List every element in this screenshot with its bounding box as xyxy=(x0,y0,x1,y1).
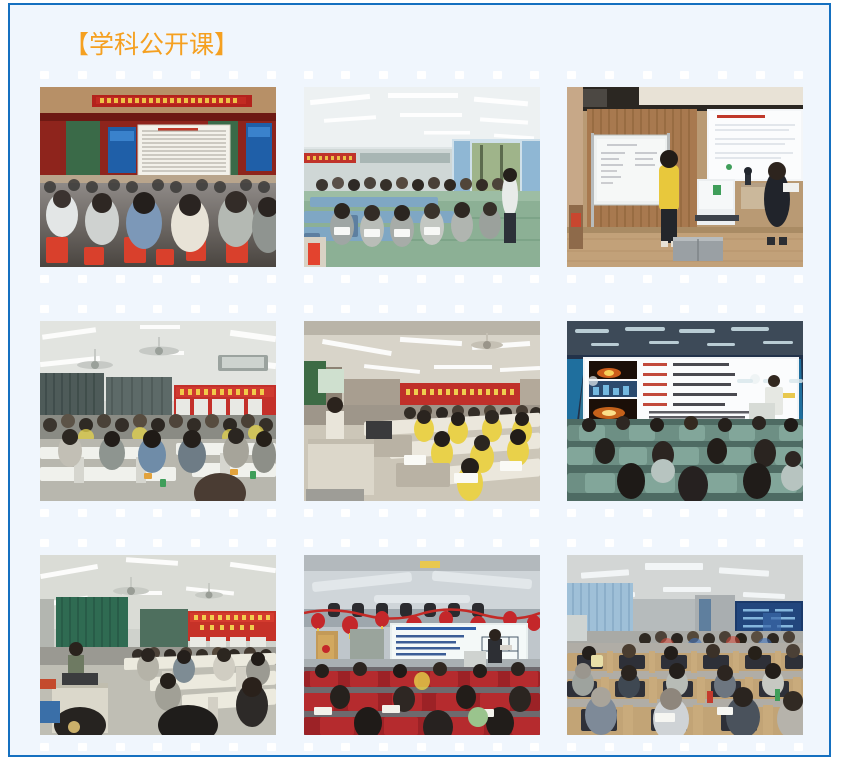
dash-mark xyxy=(191,71,200,79)
photo-cell[interactable]: 现代报告厅，巨幅LED屏播放课件，墨绿色座椅，右侧演讲者 xyxy=(566,305,804,517)
dash-mark xyxy=(493,275,502,283)
dash-mark xyxy=(794,275,803,283)
dash-mark xyxy=(756,743,765,751)
perforation-strip-top xyxy=(303,305,541,313)
dash-mark xyxy=(680,305,689,313)
dash-mark xyxy=(455,539,464,547)
dash-mark xyxy=(756,539,765,547)
dash-mark xyxy=(379,305,388,313)
dash-mark xyxy=(455,743,464,751)
dash-mark xyxy=(153,743,162,751)
dash-mark xyxy=(341,509,350,517)
dash-mark xyxy=(379,743,388,751)
perforation-strip-bottom xyxy=(303,275,541,283)
dash-mark xyxy=(116,509,125,517)
dash-mark xyxy=(794,509,803,517)
dash-mark xyxy=(229,275,238,283)
dash-mark xyxy=(379,71,388,79)
perforation-strip-bottom xyxy=(566,509,804,517)
dash-mark xyxy=(116,275,125,283)
dash-mark xyxy=(567,71,576,79)
gallery-row: 教室内绿色窗帘，左前方讲课教师，后墙红色横幅，听课人群 xyxy=(39,539,804,751)
dash-mark xyxy=(605,275,614,283)
dash-mark xyxy=(643,275,652,283)
dash-mark xyxy=(191,743,200,751)
dash-mark xyxy=(267,509,276,517)
dash-mark xyxy=(605,539,614,547)
dash-mark xyxy=(229,305,238,313)
dash-mark xyxy=(718,71,727,79)
dash-mark xyxy=(191,305,200,313)
dash-mark xyxy=(229,509,238,517)
gallery-photo-1[interactable] xyxy=(40,87,276,267)
classroom-ceiling-fans-art xyxy=(40,321,276,501)
perforation-strip-bottom xyxy=(566,275,804,283)
dash-mark xyxy=(605,71,614,79)
dash-mark xyxy=(605,305,614,313)
dash-mark xyxy=(455,71,464,79)
dash-mark xyxy=(680,509,689,517)
dash-mark xyxy=(718,509,727,517)
perforation-strip-bottom xyxy=(39,743,277,751)
dash-mark xyxy=(567,743,576,751)
dash-mark xyxy=(379,539,388,547)
dash-mark xyxy=(493,743,502,751)
perforation-strip-bottom xyxy=(303,509,541,517)
auditorium-stage-red-banner-art xyxy=(40,87,276,267)
dash-mark xyxy=(116,743,125,751)
dash-mark xyxy=(718,275,727,283)
dash-mark xyxy=(567,509,576,517)
dash-mark xyxy=(493,539,502,547)
perforation-strip-bottom xyxy=(39,509,277,517)
dash-mark xyxy=(153,539,162,547)
dash-mark xyxy=(267,305,276,313)
modern-auditorium-led-screen-art xyxy=(567,321,803,501)
dash-mark xyxy=(493,305,502,313)
gallery-photo-5[interactable] xyxy=(304,321,540,501)
page-title-text: 【学科公开课】 xyxy=(64,29,239,61)
dash-mark xyxy=(417,305,426,313)
dash-mark xyxy=(341,275,350,283)
dash-mark xyxy=(643,305,652,313)
dash-mark xyxy=(304,275,313,283)
dash-mark xyxy=(191,539,200,547)
photo-gallery: 大礼堂高考研讨会现场，舞台悬挂红色横幅，满座听众背影 xyxy=(39,71,804,751)
dash-mark xyxy=(493,71,502,79)
dash-mark xyxy=(78,71,87,79)
perforation-strip-bottom xyxy=(566,743,804,751)
dash-mark xyxy=(417,539,426,547)
dash-mark xyxy=(756,71,765,79)
perforation-strip-top xyxy=(566,305,804,313)
dash-mark xyxy=(643,539,652,547)
gallery-row: 大礼堂高考研讨会现场，舞台悬挂红色横幅，满座听众背影 xyxy=(39,71,804,283)
dash-mark xyxy=(530,539,539,547)
dash-mark xyxy=(153,275,162,283)
dash-mark xyxy=(643,509,652,517)
dash-mark xyxy=(455,275,464,283)
dash-mark xyxy=(40,275,49,283)
dash-mark xyxy=(718,539,727,547)
dash-mark xyxy=(567,305,576,313)
photo-cell[interactable]: 公开课教室，白板前黄衣学生，讲台旁执稿授课教师，右侧投影屏幕 xyxy=(566,71,804,283)
dash-mark xyxy=(341,71,350,79)
perforation-strip-top xyxy=(303,539,541,547)
perforation-strip-top xyxy=(303,71,541,79)
conference-hall-wood-chairs-art xyxy=(567,555,803,735)
dash-mark xyxy=(229,71,238,79)
gallery-photo-6[interactable] xyxy=(567,321,803,501)
dash-mark xyxy=(794,539,803,547)
gallery-photo-8[interactable] xyxy=(304,555,540,735)
dash-mark xyxy=(267,275,276,283)
dash-mark xyxy=(341,539,350,547)
gallery-photo-2[interactable] xyxy=(304,87,540,267)
dash-mark xyxy=(680,539,689,547)
gallery-row: 教室内吊扇与白色课桌，后墙红色横幅，学生听课 xyxy=(39,305,804,517)
dash-mark xyxy=(794,743,803,751)
photo-cell[interactable]: 教室内绿色窗帘，左前方讲课教师，后墙红色横幅，听课人群 xyxy=(39,539,277,751)
dash-mark xyxy=(341,305,350,313)
dash-mark xyxy=(267,539,276,547)
page-title: 【学科公开课】 xyxy=(64,27,239,63)
tiered-classroom-blue-seats-art xyxy=(304,87,540,267)
dash-mark xyxy=(116,305,125,313)
dash-mark xyxy=(191,509,200,517)
dash-mark xyxy=(493,509,502,517)
dash-mark xyxy=(530,509,539,517)
dash-mark xyxy=(40,743,49,751)
dash-mark xyxy=(567,275,576,283)
dash-mark xyxy=(680,275,689,283)
dash-mark xyxy=(417,743,426,751)
classroom-green-curtain-art xyxy=(40,555,276,735)
dash-mark xyxy=(643,743,652,751)
dash-mark xyxy=(229,743,238,751)
dash-mark xyxy=(78,509,87,517)
dash-mark xyxy=(530,743,539,751)
dash-mark xyxy=(40,305,49,313)
public-lesson-page: 【学科公开课】 xyxy=(8,3,831,757)
photo-cell[interactable]: 教室左侧教师讲台授课，学生身着黄色上衣，后墙红色横幅 xyxy=(303,305,541,517)
dash-mark xyxy=(455,509,464,517)
gallery-photo-9[interactable] xyxy=(567,555,803,735)
dash-mark xyxy=(304,539,313,547)
dash-mark xyxy=(153,305,162,313)
dash-mark xyxy=(530,305,539,313)
dash-mark xyxy=(794,305,803,313)
dash-mark xyxy=(78,305,87,313)
dash-mark xyxy=(605,509,614,517)
dash-mark xyxy=(40,539,49,547)
dash-mark xyxy=(229,539,238,547)
gallery-photo-4[interactable] xyxy=(40,321,276,501)
dash-mark xyxy=(530,71,539,79)
dash-mark xyxy=(794,71,803,79)
classroom-whiteboard-lecture-art xyxy=(567,87,803,267)
perforation-strip-bottom xyxy=(303,743,541,751)
perforation-strip-top xyxy=(39,305,277,313)
dash-mark xyxy=(680,743,689,751)
dash-mark xyxy=(718,743,727,751)
perforation-strip-top xyxy=(566,539,804,547)
photo-cell[interactable]: 大礼堂高考研讨会现场，舞台悬挂红色横幅，满座听众背影 xyxy=(39,71,277,283)
dash-mark xyxy=(78,539,87,547)
photo-cell[interactable]: 阶梯教室，穿校服的学生坐蓝色座椅，绿色地面，蓝色窗帘 xyxy=(303,71,541,283)
dash-mark xyxy=(267,743,276,751)
dash-mark xyxy=(756,305,765,313)
dash-mark xyxy=(40,509,49,517)
dash-mark xyxy=(304,509,313,517)
photo-cell[interactable]: 教室内吊扇与白色课桌，后墙红色横幅，学生听课 xyxy=(39,305,277,517)
dash-mark xyxy=(680,71,689,79)
dash-mark xyxy=(304,71,313,79)
dash-mark xyxy=(417,509,426,517)
dash-mark xyxy=(530,275,539,283)
dash-mark xyxy=(304,305,313,313)
dash-mark xyxy=(756,275,765,283)
dash-mark xyxy=(643,71,652,79)
dash-mark xyxy=(605,743,614,751)
perforation-strip-bottom xyxy=(39,275,277,283)
dash-mark xyxy=(116,539,125,547)
lecture-room-yellow-shirts-art xyxy=(304,321,540,501)
perforation-strip-top xyxy=(566,71,804,79)
dash-mark xyxy=(304,743,313,751)
dash-mark xyxy=(379,275,388,283)
perforation-strip-top xyxy=(39,71,277,79)
dash-mark xyxy=(40,71,49,79)
photo-cell[interactable]: 礼堂内悬挂红色中国结与灯笼，红色座椅，前方投影课件 xyxy=(303,539,541,751)
dash-mark xyxy=(567,539,576,547)
dash-mark xyxy=(417,71,426,79)
dash-mark xyxy=(116,71,125,79)
dash-mark xyxy=(267,71,276,79)
dash-mark xyxy=(455,305,464,313)
dash-mark xyxy=(153,71,162,79)
dash-mark xyxy=(153,509,162,517)
dash-mark xyxy=(417,275,426,283)
photo-cell[interactable]: 会场木质座椅满座，蓝色窗帘，前方蓝色大屏幕 xyxy=(566,539,804,751)
gallery-photo-7[interactable] xyxy=(40,555,276,735)
gallery-photo-3[interactable] xyxy=(567,87,803,267)
dash-mark xyxy=(718,305,727,313)
dash-mark xyxy=(341,743,350,751)
hall-red-lanterns-art xyxy=(304,555,540,735)
dash-mark xyxy=(756,509,765,517)
dash-mark xyxy=(191,275,200,283)
dash-mark xyxy=(379,509,388,517)
dash-mark xyxy=(78,275,87,283)
dash-mark xyxy=(78,743,87,751)
perforation-strip-top xyxy=(39,539,277,547)
